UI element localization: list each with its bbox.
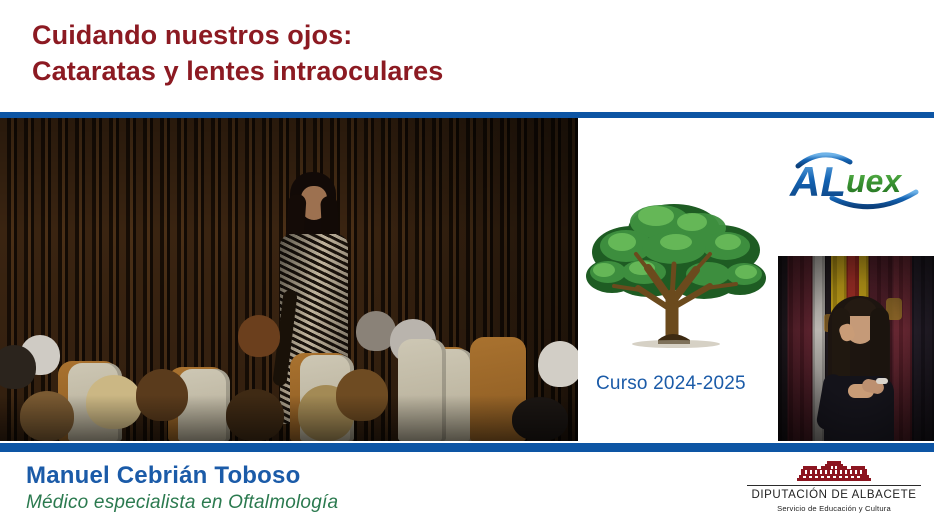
svg-text:uex: uex <box>846 163 902 199</box>
auditorium-photo <box>0 118 578 441</box>
aluex-logo: AL uex <box>788 148 928 210</box>
bottom-accent-rule <box>0 443 934 452</box>
title-line-2: Cataratas y lentes intraoculares <box>32 54 912 90</box>
institution-department: Servicio de Educación y Cultura <box>745 504 923 513</box>
presentation-slide: Cuidando nuestros ojos: Cataratas y lent… <box>0 0 934 525</box>
audience <box>0 317 578 441</box>
speaker-name: Manuel Cebrián Toboso <box>26 462 300 490</box>
svg-text:AL: AL <box>789 158 846 205</box>
audience-head <box>0 345 36 389</box>
tree-illustration <box>586 192 766 360</box>
photo-vignette <box>778 256 934 441</box>
palace-building-icon <box>797 461 871 483</box>
audience-head <box>538 341 578 387</box>
institution-name: DIPUTACIÓN DE ALBACETE <box>745 489 923 502</box>
diputacion-logo: DIPUTACIÓN DE ALBACETE Servicio de Educa… <box>745 461 923 519</box>
speaker-role: Médico especialista en Oftalmología <box>26 492 338 514</box>
brand-panel: AL uex <box>578 118 934 441</box>
logo-divider <box>747 485 921 486</box>
sign-language-photo <box>778 256 934 441</box>
audience-shadow <box>0 395 578 441</box>
course-label: Curso 2024-2025 <box>596 373 786 395</box>
audience-head <box>238 315 280 357</box>
title-line-1: Cuidando nuestros ojos: <box>32 18 912 54</box>
page-title: Cuidando nuestros ojos: Cataratas y lent… <box>32 18 912 90</box>
